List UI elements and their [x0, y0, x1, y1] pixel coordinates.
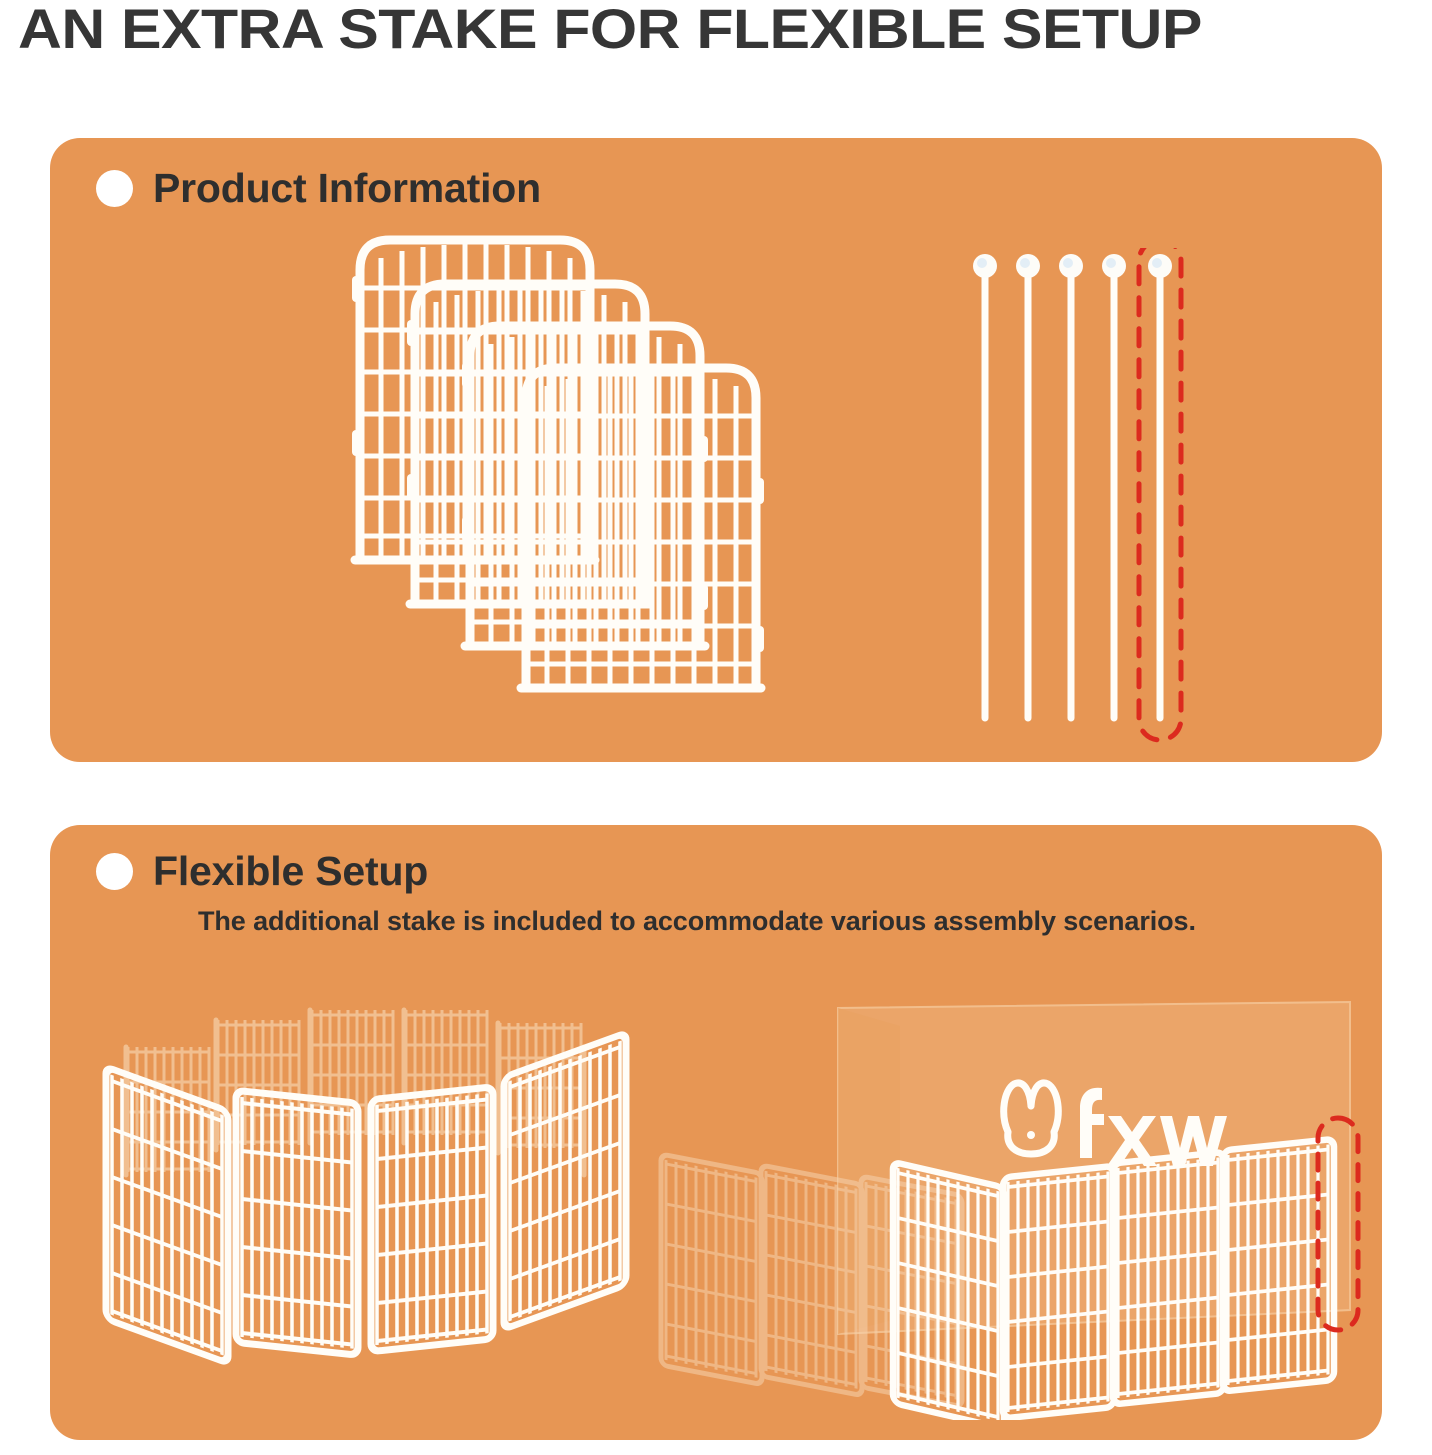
card-flexible-setup: Flexible Setup The additional stake is i… — [50, 825, 1382, 1440]
stake-2 — [1016, 254, 1040, 718]
white-dot-icon — [96, 170, 133, 207]
wall-mounted-playpen-illustration — [650, 1000, 1380, 1420]
card-heading-product: Product Information — [153, 164, 541, 212]
wire-panel-stack-illustration — [350, 230, 780, 730]
stake-5-highlighted — [1148, 254, 1172, 718]
page-title: AN EXTRA STAKE FOR FLEXIBLE SETUP — [18, 0, 1432, 62]
octagonal-playpen-illustration — [90, 985, 670, 1415]
card-heading-flexible: Flexible Setup — [153, 847, 428, 895]
card-subtitle-flexible: The additional stake is included to acco… — [198, 903, 1196, 939]
stake-3 — [1059, 254, 1083, 718]
card-product-information: Product Information — [50, 138, 1382, 762]
ground-stake-row-illustration — [955, 248, 1245, 748]
white-dot-icon — [96, 853, 133, 890]
stake-1 — [973, 254, 997, 718]
stake-4 — [1102, 254, 1126, 718]
card-header-flexible: Flexible Setup — [96, 847, 428, 895]
card-header-product: Product Information — [96, 164, 541, 212]
